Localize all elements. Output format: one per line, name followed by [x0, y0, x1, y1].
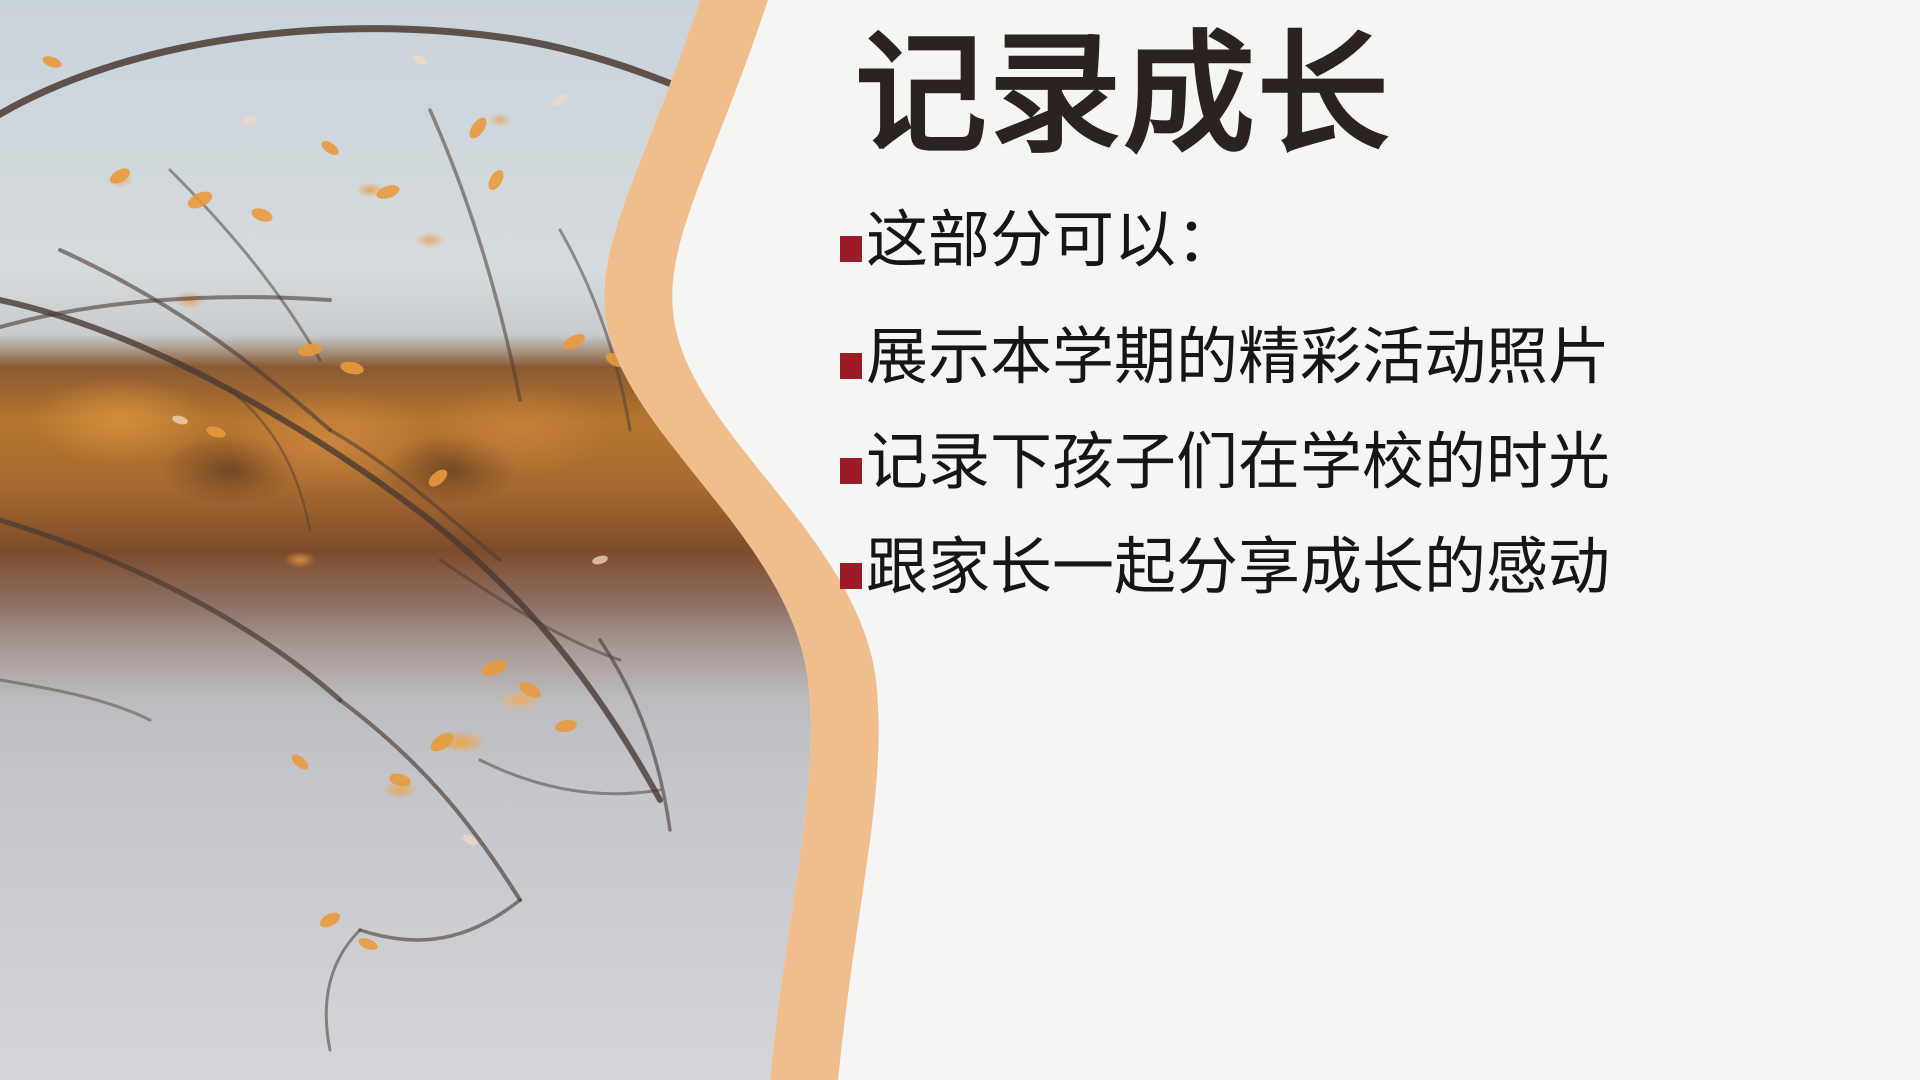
square-bullet-icon: [840, 563, 862, 589]
square-bullet-icon: [840, 236, 862, 262]
list-item[interactable]: 记录下孩子们在学校的时光: [840, 427, 1900, 500]
branch-overlay: [0, 0, 840, 1080]
list-item[interactable]: 跟家长一起分享成长的感动: [840, 532, 1900, 605]
page-title: 记录成长: [855, 22, 1391, 167]
content-area: 记录成长 这部分可以： 展示本学期的精彩活动照片 记录下孩子们在学校的时光 跟家…: [840, 0, 1920, 1080]
bullet-list: 这部分可以： 展示本学期的精彩活动照片 记录下孩子们在学校的时光 跟家长一起分享…: [840, 205, 1900, 638]
list-item-label: 展示本学期的精彩活动照片: [866, 322, 1610, 395]
list-item-label: 跟家长一起分享成长的感动: [866, 532, 1610, 605]
list-item-label: 记录下孩子们在学校的时光: [866, 427, 1610, 500]
decorative-photo: [0, 0, 840, 1080]
list-item-label: 这部分可以：: [866, 205, 1238, 278]
square-bullet-icon: [840, 353, 862, 379]
slide-canvas: 记录成长 这部分可以： 展示本学期的精彩活动照片 记录下孩子们在学校的时光 跟家…: [0, 0, 1920, 1080]
list-item[interactable]: 这部分可以：: [840, 205, 1900, 278]
list-item[interactable]: 展示本学期的精彩活动照片: [840, 322, 1900, 395]
square-bullet-icon: [840, 458, 862, 484]
